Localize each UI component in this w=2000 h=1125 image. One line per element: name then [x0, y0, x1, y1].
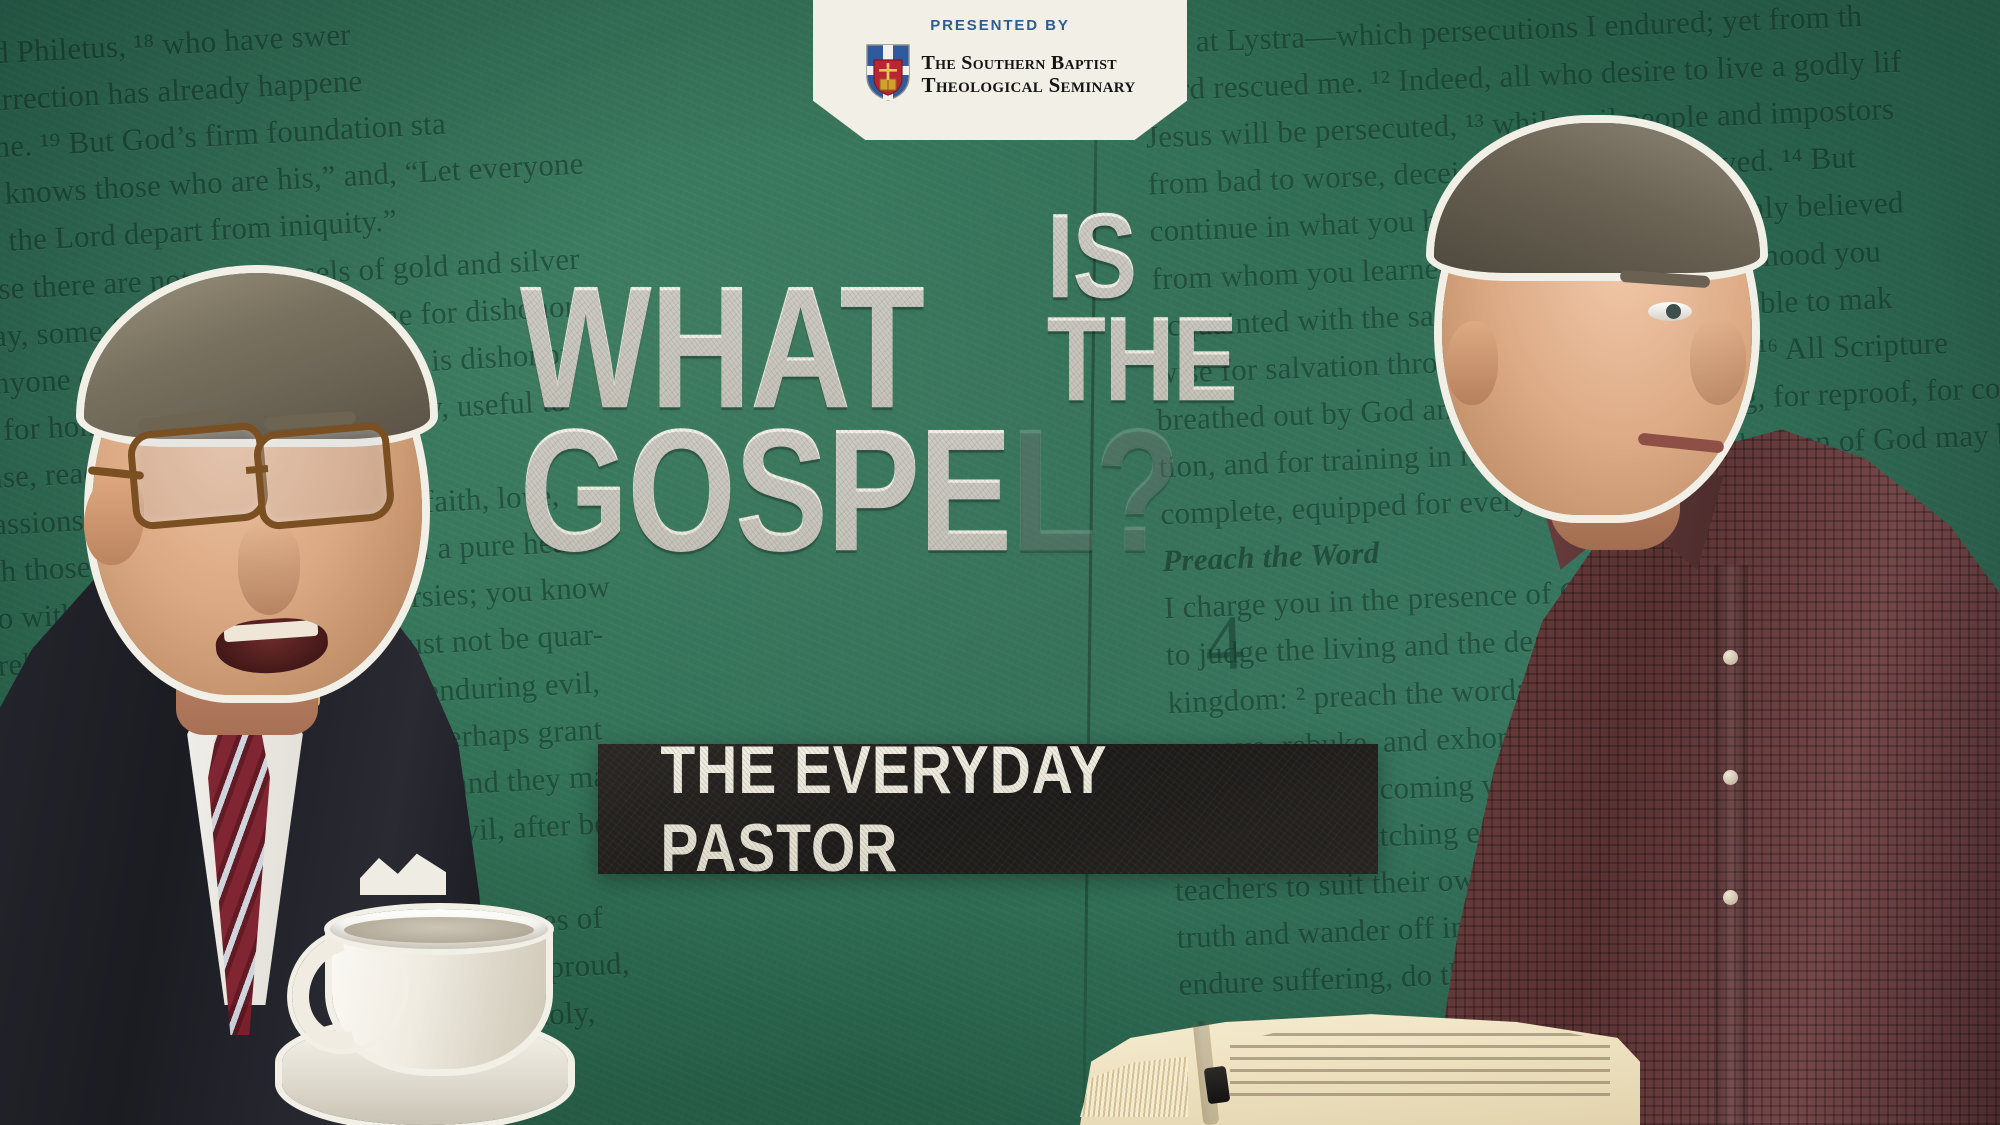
cup-interior: [344, 917, 534, 943]
eyeglasses-lens: [252, 421, 396, 530]
ear: [1446, 321, 1498, 405]
shirt-button: [1723, 650, 1738, 665]
institution-name: The Southern Baptist Theological Seminar…: [922, 52, 1136, 98]
teeth: [223, 620, 318, 643]
open-bible-prop: [1080, 975, 1640, 1125]
subtitle-text: THE EVERYDAY PASTOR: [660, 731, 1315, 887]
title-word-is-the: IS THE: [1047, 205, 1237, 421]
presented-by-badge: PRESENTED BY The Southern Baptist Theolo…: [813, 0, 1187, 140]
shirt-button: [1723, 890, 1738, 905]
bible-text-lines: [1230, 1021, 1610, 1099]
nose: [238, 523, 300, 615]
eyeglasses-lens: [126, 421, 270, 530]
presented-by-label: PRESENTED BY: [930, 17, 1070, 34]
institution-line-2: Theological Seminary: [922, 74, 1136, 98]
title-line-1: WHAT IS THE: [520, 205, 1140, 421]
institution-lockup: The Southern Baptist Theological Seminar…: [865, 43, 1136, 106]
subtitle-banner: THE EVERYDAY PASTOR: [598, 744, 1378, 874]
institution-line-1: The Southern Baptist: [922, 52, 1136, 74]
title-block: WHAT IS THE GOSPEL?: [520, 205, 1140, 565]
hair: [84, 273, 430, 439]
hair: [1434, 123, 1760, 273]
person-guest-right: [1350, 0, 2000, 1125]
eye: [1648, 302, 1692, 321]
title-word-gospel: GOSPEL?: [520, 415, 1016, 565]
sbts-shield-logo: [865, 43, 911, 106]
video-thumbnail: em are Hymenaeus and Philetus, ¹⁸ who ha…: [0, 0, 2000, 1125]
coffee-cup-prop: [282, 905, 582, 1125]
nose: [1690, 319, 1746, 405]
shirt-button: [1723, 770, 1738, 785]
shirt-placket: [1714, 565, 1748, 1125]
